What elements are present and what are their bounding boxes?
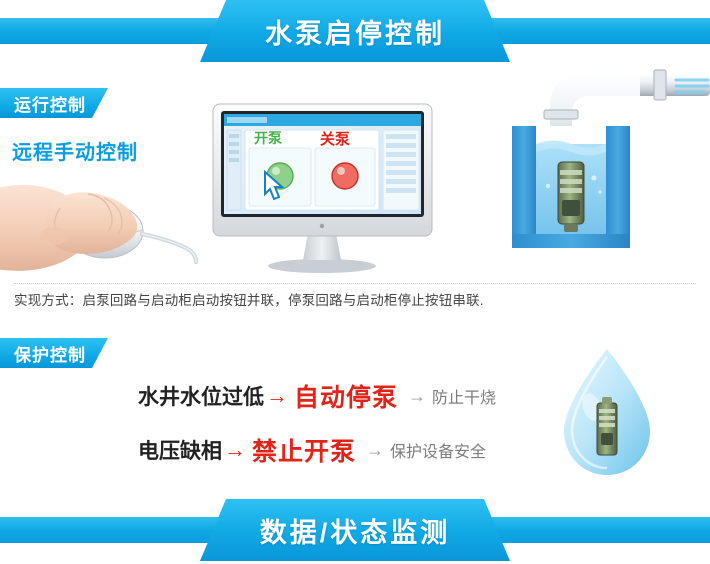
protect-rule-row-1: 水井水位过低 → 自动停泵 → 防止干烧 xyxy=(138,378,496,414)
section-flag-run-control: 运行控制 xyxy=(0,88,108,118)
water-droplet-illustration xyxy=(552,345,662,480)
implementation-note: 实现方式：启泵回路与启动柜启动按钮并联，停泵回路与启动柜停止按钮串联. xyxy=(14,289,484,309)
bottom-banner: 数据/状态监测 xyxy=(0,499,710,561)
well-and-pump-illustration xyxy=(490,58,710,268)
desktop-monitor-illustration: 开泵 关泵 xyxy=(205,100,440,275)
protect-rule-2-result-arrow-icon: → xyxy=(366,440,384,461)
protect-rule-2-arrow-icon: → xyxy=(224,437,246,463)
top-banner-title: 水泵启停控制 xyxy=(0,0,710,62)
protect-rule-1-result: 防止干烧 xyxy=(432,384,496,408)
submersible-pump-icon xyxy=(597,397,617,455)
protect-rule-1-result-arrow-icon: → xyxy=(408,386,426,407)
protect-rule-2-condition: 电压缺相 xyxy=(138,435,222,465)
infographic-page: 水泵启停控制 运行控制 远程手动控制 xyxy=(0,0,710,564)
protect-rule-2-action: 禁止开泵 xyxy=(252,432,356,468)
top-banner: 水泵启停控制 xyxy=(0,0,710,62)
stop-pump-button-label[interactable]: 关泵 xyxy=(320,128,350,149)
water-droplet-icon xyxy=(552,345,662,480)
submersible-pump-icon xyxy=(558,162,584,232)
water-well-icon xyxy=(490,58,710,268)
protect-rule-1-condition: 水井水位过低 xyxy=(138,381,264,411)
hand-with-mouse-illustration xyxy=(0,150,215,280)
note-divider xyxy=(14,283,696,284)
protect-rule-2-result: 保护设备安全 xyxy=(390,438,486,462)
protect-rule-row-2: 电压缺相 → 禁止开泵 → 保护设备安全 xyxy=(138,432,486,468)
protect-rule-1-arrow-icon: → xyxy=(266,383,288,409)
start-pump-button-label[interactable]: 开泵 xyxy=(254,128,282,148)
desktop-monitor-icon xyxy=(205,100,440,275)
section-flag-protect-control: 保护控制 xyxy=(0,338,108,368)
protect-rule-1-action: 自动停泵 xyxy=(294,378,398,414)
bottom-banner-title: 数据/状态监测 xyxy=(0,499,710,561)
hand-icon xyxy=(0,150,215,280)
